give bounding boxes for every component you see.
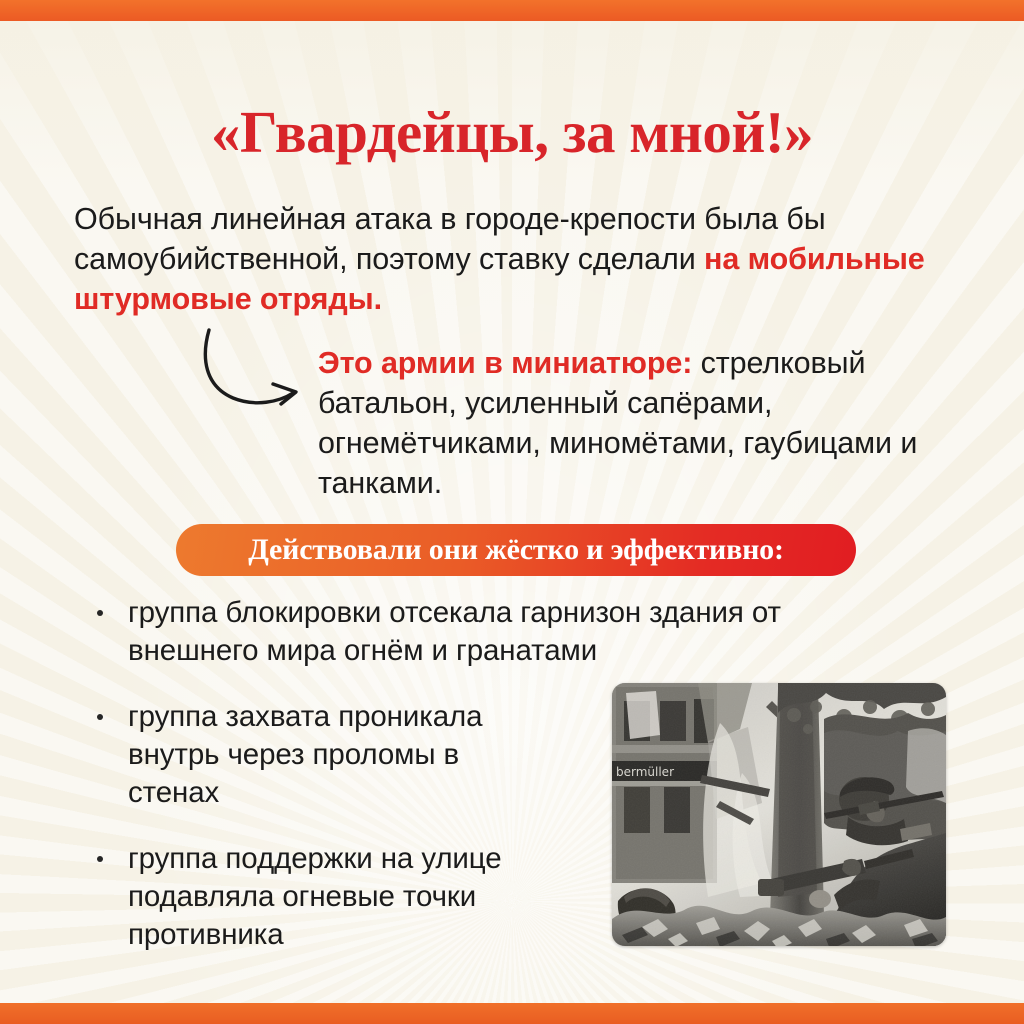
historical-photo: bermüller (612, 683, 946, 946)
top-accent-bar (0, 0, 1024, 21)
curved-arrow-icon (193, 324, 323, 416)
page-title: «Гвардейцы, за мной!» (0, 98, 1024, 167)
detail-paragraph-highlight: Это армии в миниатюре: (318, 346, 692, 380)
list-item: группа поддержки на улице подавляла огне… (88, 840, 558, 954)
section-banner: Действовали они жёстко и эффективно: (176, 524, 856, 576)
section-banner-label: Действовали они жёстко и эффективно: (248, 533, 784, 567)
list-item: группа блокировки отсекала гарнизон здан… (88, 594, 918, 670)
content-area: «Гвардейцы, за мной!» Обычная линейная а… (0, 21, 1024, 1003)
intro-paragraph: Обычная линейная атака в городе-крепости… (74, 199, 934, 319)
infographic-page: «Гвардейцы, за мной!» Обычная линейная а… (0, 0, 1024, 1024)
list-item: группа захвата проникала внутрь через пр… (88, 698, 558, 812)
detail-paragraph: Это армии в миниатюре: стрелковый баталь… (318, 343, 948, 503)
bottom-accent-bar (0, 1003, 1024, 1024)
